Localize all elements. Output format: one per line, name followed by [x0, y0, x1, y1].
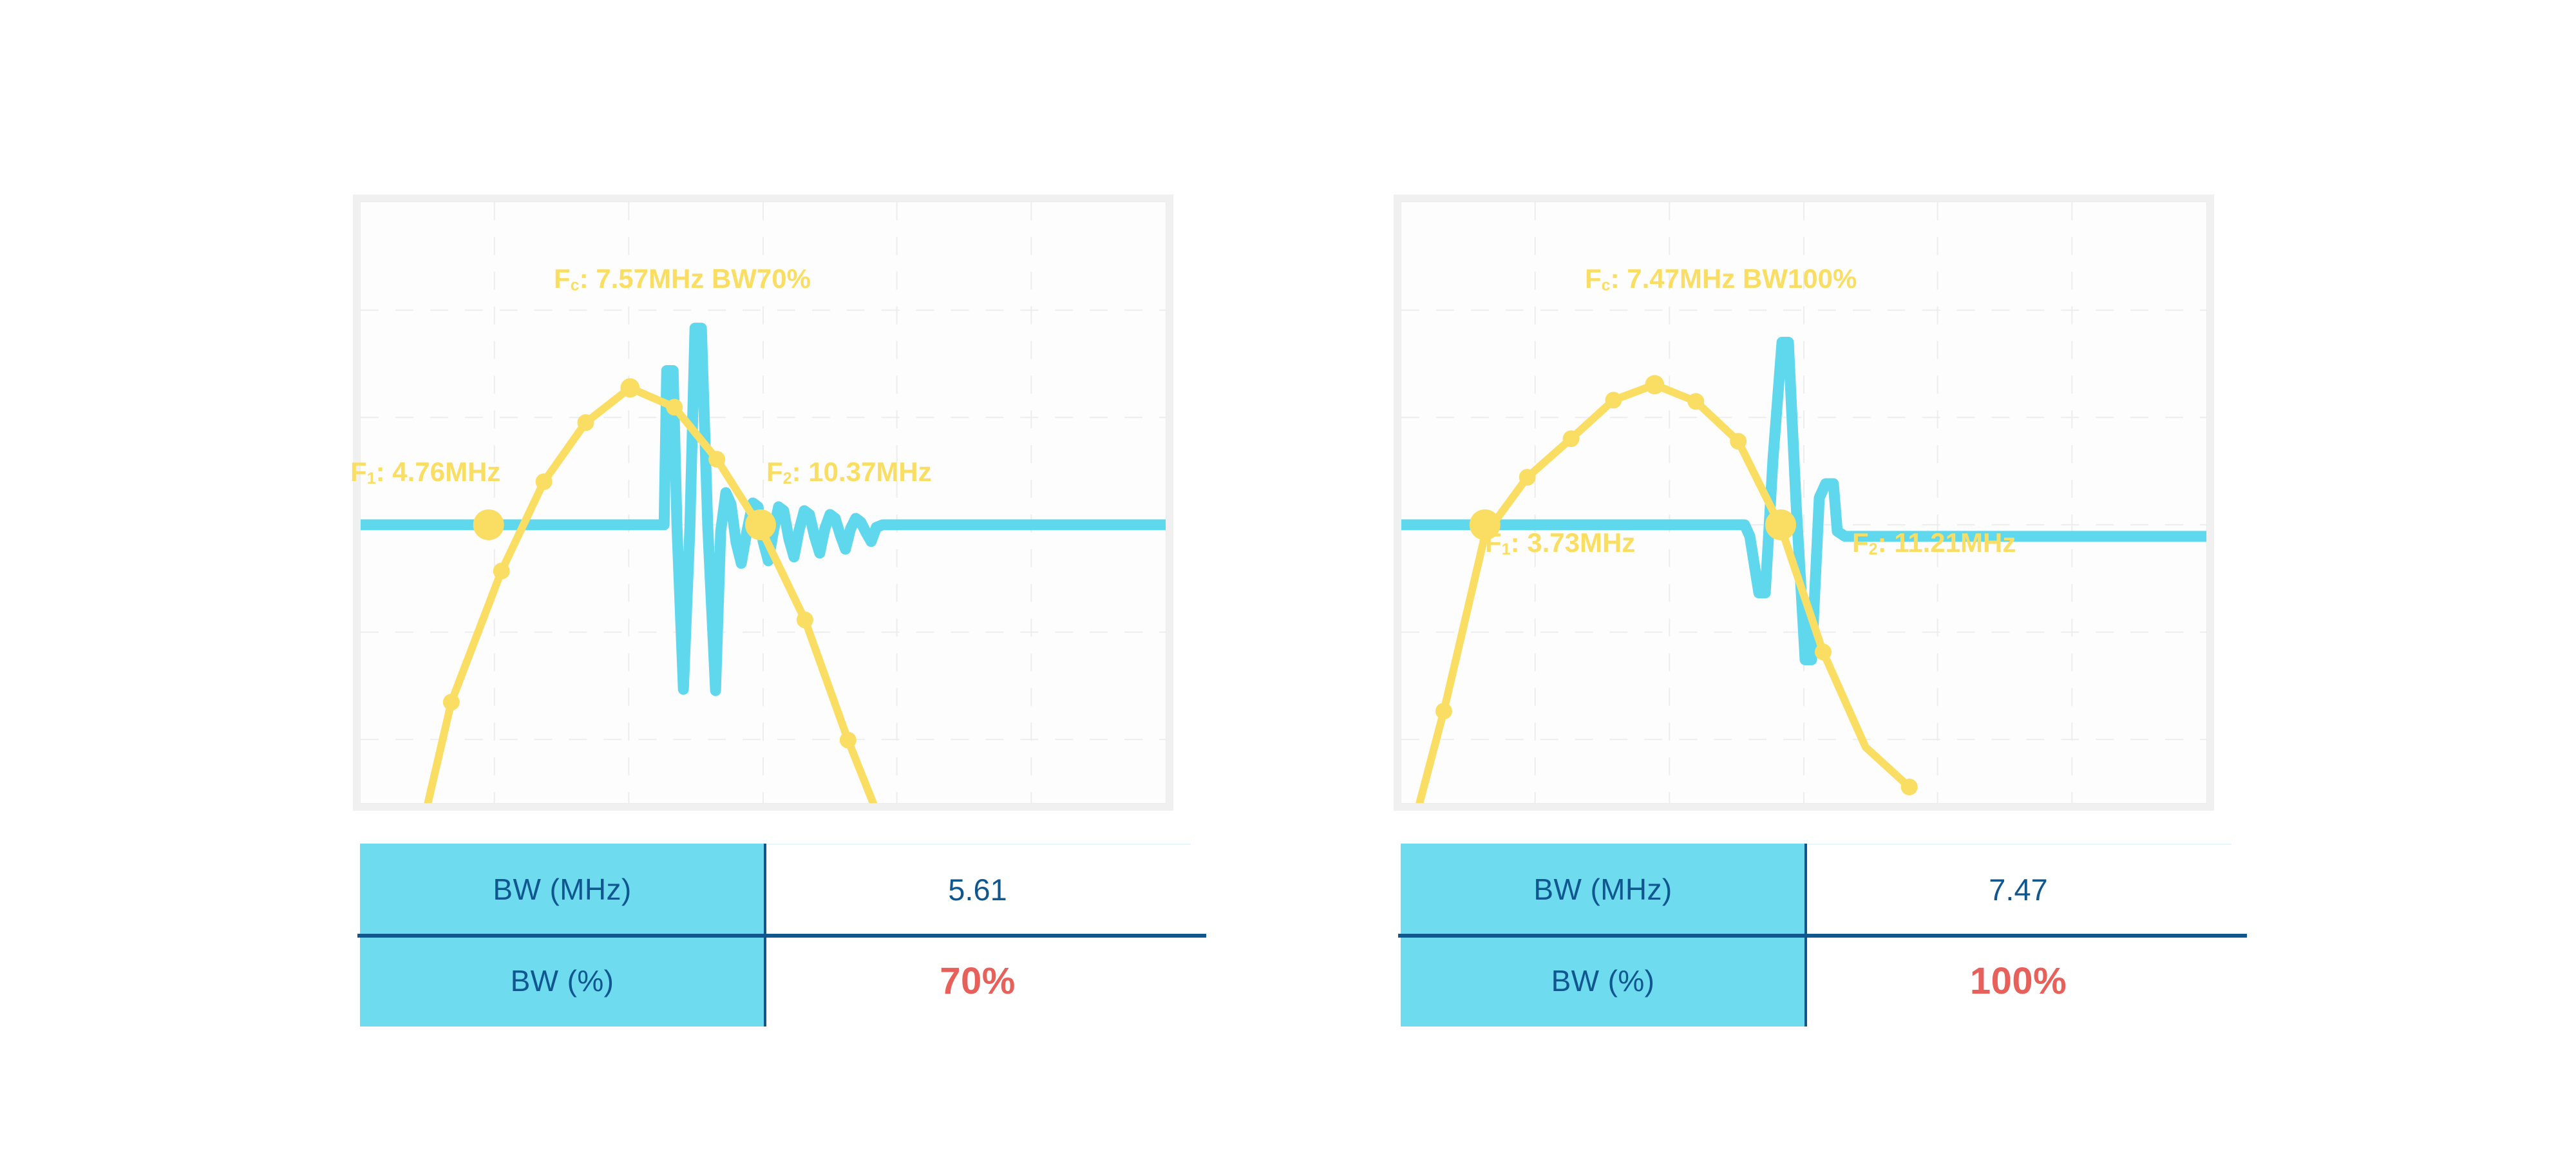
row-label-text: BW (MHz) [1533, 872, 1672, 907]
annotation-upper-cutoff-right: F2: 11.21MHz [1852, 527, 2016, 559]
table-row: BW (MHz) 5.61 [360, 844, 1191, 935]
f2-marker [1765, 509, 1796, 540]
fc-symbol: F [554, 263, 571, 294]
fc-text: : 7.47MHz BW100% [1611, 263, 1857, 294]
f2-marker [745, 509, 776, 540]
f1-symbol: F [1485, 527, 1502, 558]
spectrum-markers-right [1435, 375, 1918, 795]
fc-symbol: F [1585, 263, 1602, 294]
f2-subscript: 2 [1869, 540, 1878, 558]
annotation-center-frequency-right: Fc: 7.47MHz BW100% [1585, 263, 1857, 295]
row-value-text: 7.47 [1989, 872, 2047, 907]
annotation-lower-cutoff-right: F1: 3.73MHz [1485, 527, 1635, 559]
f2-symbol: F [766, 457, 783, 487]
row-value-bw-mhz: 7.47 [1805, 844, 2231, 935]
bandwidth-table-left: BW (MHz) 5.61 BW (%) 70% [360, 844, 1191, 1027]
f1-subscript: 1 [1502, 540, 1511, 558]
row-label-bw-pct: BW (%) [1401, 935, 1805, 1026]
table-row-separator [357, 934, 1206, 938]
annotation-lower-cutoff-left: F1: 4.76MHz [350, 457, 500, 488]
spectrum-curve-left [411, 388, 893, 803]
row-value-bw-pct: 100% [1805, 935, 2231, 1026]
measurement-panel-right: Fc: 7.47MHz BW100% F1: 3.73MHz F2: 11.21… [1385, 185, 2222, 1042]
f2-text: : 11.21MHz [1878, 527, 2016, 558]
f1-symbol: F [350, 457, 367, 487]
fc-subscript: c [1602, 276, 1611, 294]
f2-subscript: 2 [783, 469, 792, 487]
table-top-hairline [1805, 844, 2231, 845]
row-label-text: BW (%) [511, 963, 614, 998]
row-label-text: BW (%) [1551, 963, 1655, 998]
table-row: BW (%) 70% [360, 935, 1191, 1026]
measurement-panel-left: Fc: 7.57MHz BW70% F1: 4.76MHz F2: 10.37M… [345, 185, 1182, 1042]
row-value-text: 70% [940, 960, 1016, 1003]
row-value-text: 100% [1970, 960, 2067, 1003]
annotation-upper-cutoff-left: F2: 10.37MHz [766, 457, 932, 488]
row-label-bw-mhz: BW (MHz) [360, 844, 764, 935]
row-label-text: BW (MHz) [493, 872, 631, 907]
f2-symbol: F [1852, 527, 1869, 558]
row-value-bw-mhz: 5.61 [764, 844, 1191, 935]
table-top-hairline [764, 844, 1191, 845]
table-row: BW (%) 100% [1401, 935, 2231, 1026]
spectrum-chart-right: Fc: 7.47MHz BW100% F1: 3.73MHz F2: 11.21… [1401, 202, 2207, 804]
row-label-bw-pct: BW (%) [360, 935, 764, 1026]
spectrum-curve-right [1405, 384, 1909, 803]
fc-subscript: c [571, 276, 580, 294]
row-label-bw-mhz: BW (MHz) [1401, 844, 1805, 935]
f1-subscript: 1 [367, 469, 376, 487]
table-row-separator [1398, 934, 2247, 938]
f1-text: : 4.76MHz [376, 457, 501, 487]
spectrum-chart-left: Fc: 7.57MHz BW70% F1: 4.76MHz F2: 10.37M… [360, 202, 1166, 804]
fc-text: : 7.57MHz BW70% [580, 263, 811, 294]
f1-marker [473, 509, 504, 540]
f2-text: : 10.37MHz [792, 457, 932, 487]
table-row: BW (MHz) 7.47 [1401, 844, 2231, 935]
comparison-figure: Fc: 7.57MHz BW70% F1: 4.76MHz F2: 10.37M… [0, 0, 2576, 1154]
f1-text: : 3.73MHz [1511, 527, 1636, 558]
row-value-text: 5.61 [948, 872, 1007, 907]
annotation-center-frequency-left: Fc: 7.57MHz BW70% [554, 263, 811, 295]
row-value-bw-pct: 70% [764, 935, 1191, 1026]
bandwidth-table-right: BW (MHz) 7.47 BW (%) 100% [1401, 844, 2231, 1027]
